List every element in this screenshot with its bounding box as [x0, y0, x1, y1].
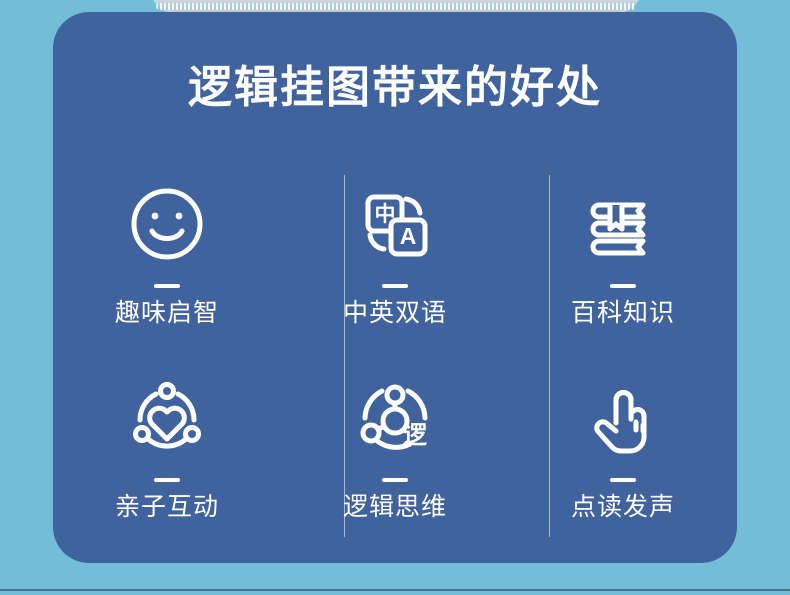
- features-panel: 逻辑挂图带来的好处 趣味启智: [53, 12, 737, 563]
- label-dash: [154, 284, 180, 288]
- page-bottom-rule: [0, 589, 790, 591]
- stacked-books-icon: [575, 176, 671, 272]
- pointing-hand-icon: [575, 370, 671, 466]
- promo-page: 逻辑挂图带来的好处 趣味启智: [0, 0, 790, 595]
- page-title: 逻辑挂图带来的好处: [53, 66, 737, 110]
- feature-label: 点读发声: [571, 495, 675, 520]
- feature-label: 亲子互动: [115, 495, 219, 520]
- feature-item-fun-enlightenment: 趣味启智: [53, 162, 281, 356]
- feature-label: 百科知识: [571, 301, 675, 326]
- smiley-face-icon: [119, 176, 215, 272]
- heart-network-icon: [119, 370, 215, 466]
- feature-item-logical-thinking: 逻 逻辑思维: [281, 356, 509, 550]
- feature-item-encyclopedia: 百科知识: [509, 162, 737, 356]
- label-dash: [382, 478, 408, 482]
- feature-item-parent-child: 亲子互动: [53, 356, 281, 550]
- previous-section-image-sliver: [150, 0, 642, 12]
- svg-text:逻: 逻: [403, 422, 428, 449]
- feature-label: 逻辑思维: [343, 495, 447, 520]
- label-dash: [610, 284, 636, 288]
- features-grid: 趣味启智 中 A 中英双语: [53, 162, 737, 550]
- feature-item-bilingual: 中 A 中英双语: [281, 162, 509, 356]
- label-dash: [382, 284, 408, 288]
- label-dash: [610, 478, 636, 482]
- feature-label: 中英双语: [343, 301, 447, 326]
- svg-text:A: A: [400, 223, 417, 249]
- logic-network-icon: 逻: [347, 370, 443, 466]
- label-dash: [154, 478, 180, 482]
- feature-item-touch-read: 点读发声: [509, 356, 737, 550]
- translation-icon: 中 A: [347, 176, 443, 272]
- feature-label: 趣味启智: [115, 301, 219, 326]
